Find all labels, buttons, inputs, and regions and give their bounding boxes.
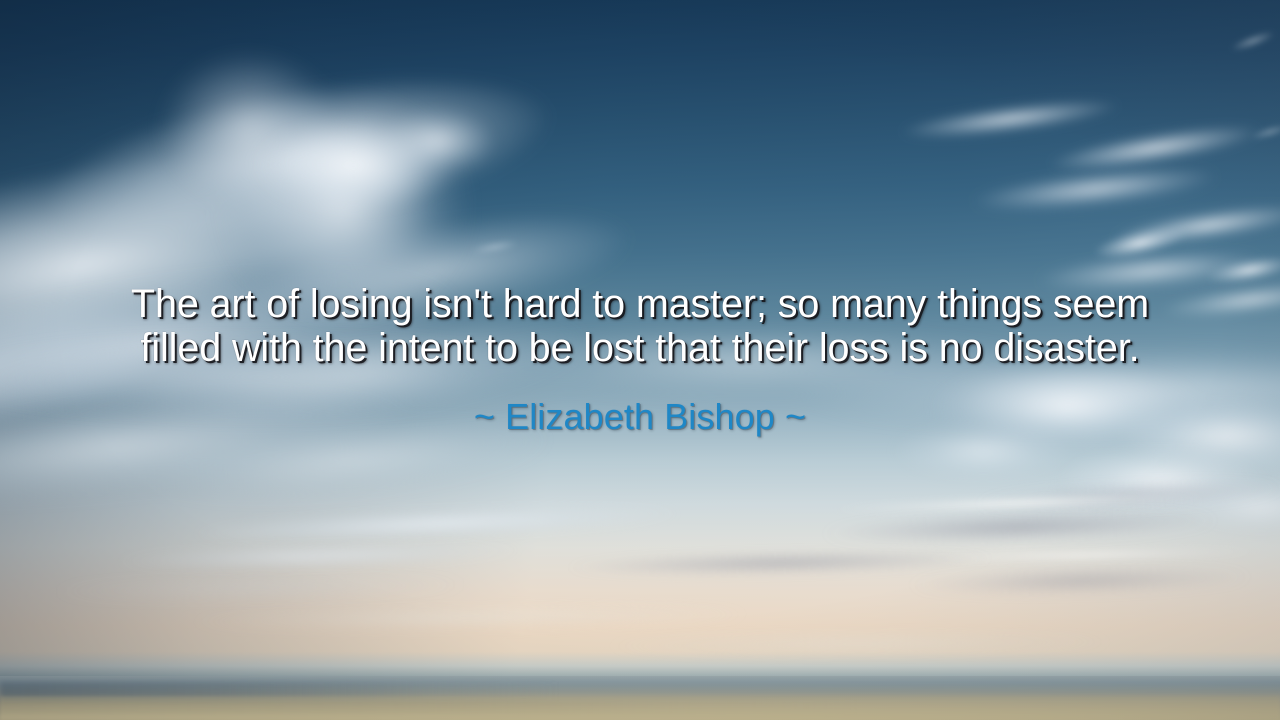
quote-text: The art of losing isn't hard to master; … bbox=[110, 282, 1170, 370]
quote-image-scene: The art of losing isn't hard to master; … bbox=[0, 0, 1280, 720]
quote-attribution: ~ Elizabeth Bishop ~ bbox=[474, 396, 806, 438]
text-overlay: The art of losing isn't hard to master; … bbox=[0, 0, 1280, 720]
